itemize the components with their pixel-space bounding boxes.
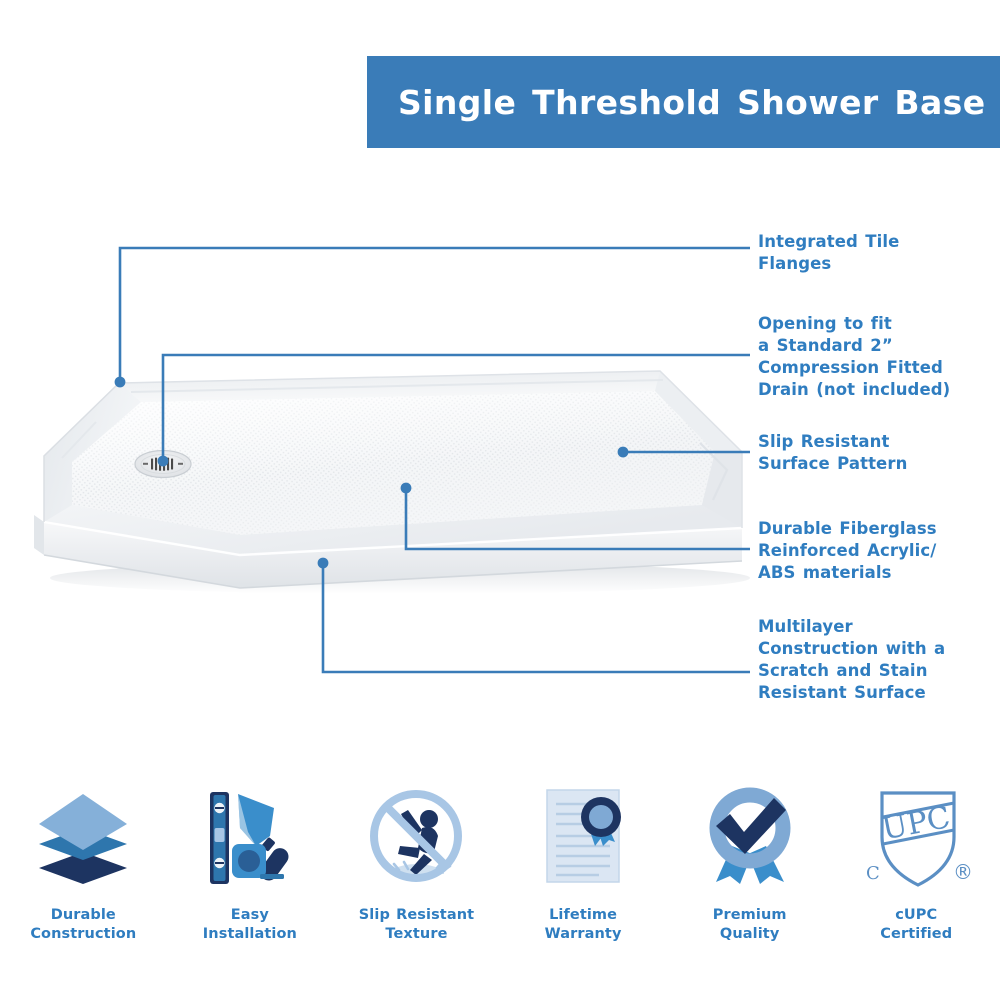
feature-cupc-certified: UPC C ® cUPC Certified xyxy=(833,780,1000,944)
feature-premium-quality: Premium Quality xyxy=(666,780,833,944)
header-banner: Single Threshold Shower Base xyxy=(367,56,1000,148)
cupc-shield-icon: UPC C ® xyxy=(858,780,974,892)
cupc-shield-right-mark: ® xyxy=(953,860,973,884)
cupc-shield-left-mark: C xyxy=(866,863,880,884)
feature-badges-row: Durable Construction xyxy=(0,780,1000,970)
callout-label-slip-resistant-surface-pattern: Slip Resistant Surface Pattern xyxy=(758,431,907,475)
feature-label-premium-quality: Premium Quality xyxy=(713,906,787,944)
feature-label-slip-resistant-texture: Slip Resistant Texture xyxy=(359,906,474,944)
feature-durable-construction: Durable Construction xyxy=(0,780,167,944)
feature-label-durable-construction: Durable Construction xyxy=(30,906,136,944)
award-check-icon xyxy=(698,780,802,892)
feature-lifetime-warranty: Lifetime Warranty xyxy=(500,780,667,944)
certificate-icon-seal-inner xyxy=(589,805,613,829)
infographic-canvas: Single Threshold Shower Base Integrated … xyxy=(0,0,1000,1000)
level-icon-bubble-top-line xyxy=(215,807,224,809)
page-title: Single Threshold Shower Base xyxy=(367,86,985,119)
tools-icon xyxy=(198,780,302,892)
no-slip-icon xyxy=(364,780,468,892)
feature-label-easy-installation: Easy Installation xyxy=(203,906,297,944)
callout-label-multilayer-construction: Multilayer Construction with a Scratch a… xyxy=(758,616,945,704)
callout-label-durable-fiberglass-materials: Durable Fiberglass Reinforced Acrylic/ A… xyxy=(758,518,937,584)
feature-slip-resistant-texture: Slip Resistant Texture xyxy=(333,780,500,944)
tape-measure-icon-blade xyxy=(260,874,284,879)
level-icon-bubble-bottom-line xyxy=(215,862,224,864)
threshold-left-cap xyxy=(34,515,44,555)
drain-assembly xyxy=(135,451,191,478)
callout-label-drain-opening: Opening to fit a Standard 2” Compression… xyxy=(758,313,950,401)
layers-icon xyxy=(31,780,135,892)
tape-measure-icon-reel xyxy=(238,850,260,872)
feature-label-lifetime-warranty: Lifetime Warranty xyxy=(545,906,622,944)
cupc-shield-main-text: UPC xyxy=(880,800,954,847)
drain-tick-left xyxy=(143,463,148,465)
feature-label-cupc-certified: cUPC Certified xyxy=(880,906,952,944)
certificate-icon xyxy=(531,780,635,892)
drain-tick-right xyxy=(178,463,183,465)
callout-label-integrated-tile-flanges: Integrated Tile Flanges xyxy=(758,231,899,275)
level-icon-vial xyxy=(214,828,224,842)
feature-easy-installation: Easy Installation xyxy=(167,780,334,944)
